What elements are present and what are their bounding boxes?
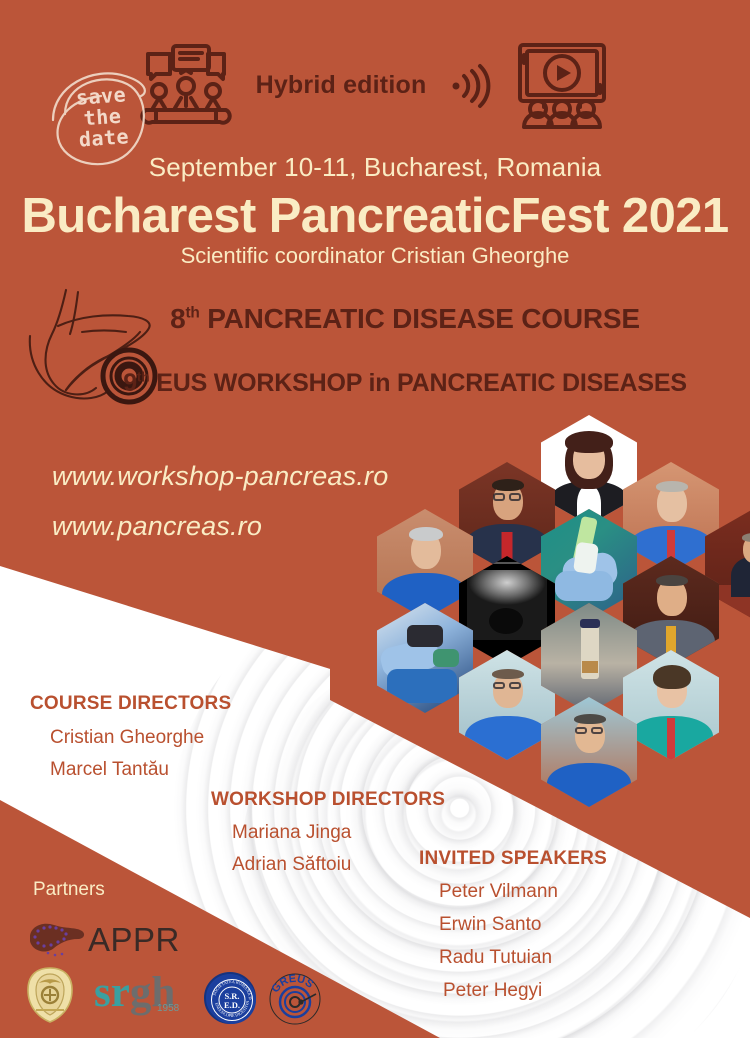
collage-tile-photo-eus-probe-gloved-hand bbox=[541, 509, 637, 619]
save-the-date-text: save the date bbox=[43, 82, 162, 153]
photo-portrait bbox=[623, 462, 719, 572]
collage-tile-photo-specimen-vial bbox=[541, 603, 637, 713]
photo-scene bbox=[541, 603, 637, 713]
course-1-name: PANCREATIC DISEASE COURSE bbox=[207, 303, 640, 334]
workshop-directors-heading: WORKSHOP DIRECTORS bbox=[211, 789, 445, 811]
collage-tile-portrait-woman-dark-hair bbox=[541, 415, 637, 525]
sred-line-2: E.D. bbox=[224, 1000, 240, 1010]
course-2-ordinal: 9 bbox=[123, 369, 137, 397]
broadcast-waves-icon bbox=[450, 62, 490, 108]
course-1-ordinal-suffix: th bbox=[185, 305, 199, 322]
srgh-year: 1958 bbox=[157, 1003, 179, 1014]
workshop-director-name-1: Mariana Jinga bbox=[232, 822, 351, 844]
collage-tile-portrait-man-blue-scrubs-2 bbox=[377, 509, 473, 619]
course-directors-heading: COURSE DIRECTORS bbox=[30, 693, 231, 715]
collage-tile-photo-ultrasound-scan bbox=[459, 556, 555, 666]
course-2-name: EUS WORKSHOP in PANCREATIC DISEASES bbox=[156, 369, 687, 397]
partner-logo-row: srgh 1958 SOCIETATEA ROMANA DE ENDOSCOPI… bbox=[22, 966, 342, 1028]
partner-logo-sred-seal: SOCIETATEA ROMANA DE ENDOSCOPIE DIGESTIV… bbox=[204, 972, 256, 1024]
collage-tile-photo-endoscopy-hands-gloves bbox=[377, 603, 473, 713]
photo-ultrasound bbox=[459, 556, 555, 666]
photo-scene bbox=[541, 509, 637, 619]
collage-tile-portrait-man-suit-gold-tie bbox=[623, 556, 719, 666]
hexagon-photo-collage bbox=[330, 415, 750, 725]
event-date-location: September 10-11, Bucharest, Romania bbox=[0, 152, 750, 183]
photo-portrait bbox=[623, 556, 719, 666]
conference-poster: Hybrid edition bbox=[0, 0, 750, 1038]
collage-tile-portrait-man-glasses-suit bbox=[459, 462, 555, 572]
course-title-eus-workshop: 9th EUS WORKSHOP in PANCREATIC DISEASES bbox=[0, 369, 750, 398]
partner-logo-srgh: srgh 1958 bbox=[94, 968, 175, 1017]
invited-speaker-name-4: Peter Hegyi bbox=[443, 980, 542, 1002]
scientific-coordinator: Scientific coordinator Cristian Gheorghe bbox=[0, 243, 750, 269]
course-director-name-2: Marcel Tantău bbox=[50, 759, 169, 781]
partner-logo-romanian-coat-of-arms bbox=[24, 966, 76, 1024]
photo-scene bbox=[377, 603, 473, 713]
workshop-director-name-2: Adrian Săftoiu bbox=[232, 854, 351, 876]
invited-speaker-name-1: Peter Vilmann bbox=[439, 881, 558, 903]
invited-speakers-heading: INVITED SPEAKERS bbox=[419, 848, 607, 870]
video-screen-audience-icon bbox=[514, 41, 610, 129]
partner-logo-appr: APPR bbox=[26, 915, 196, 963]
course-2-ordinal-suffix: th bbox=[137, 370, 150, 385]
partner-appr-label: APPR bbox=[88, 921, 180, 959]
partners-label: Partners bbox=[33, 879, 105, 901]
hybrid-edition-label: Hybrid edition bbox=[256, 71, 427, 100]
photo-portrait bbox=[377, 509, 473, 619]
invited-speaker-name-3: Radu Tutuian bbox=[439, 947, 552, 969]
link-pancreas[interactable]: www.pancreas.ro bbox=[52, 511, 262, 542]
partner-logo-greus-seal: GREUS bbox=[268, 972, 322, 1026]
srgh-text-teal: sr bbox=[94, 969, 130, 1016]
photo-portrait bbox=[541, 415, 637, 525]
photo-portrait bbox=[459, 462, 555, 572]
course-director-name-1: Cristian Gheorghe bbox=[50, 727, 204, 749]
course-1-ordinal: 8 bbox=[170, 303, 185, 334]
page-title: Bucharest PancreaticFest 2021 bbox=[0, 188, 750, 244]
invited-speaker-name-2: Erwin Santo bbox=[439, 914, 541, 936]
course-title-pancreatic-disease: 8th PANCREATIC DISEASE COURSE bbox=[0, 303, 750, 335]
collage-tile-portrait-man-blue-scrubs-1 bbox=[623, 462, 719, 572]
